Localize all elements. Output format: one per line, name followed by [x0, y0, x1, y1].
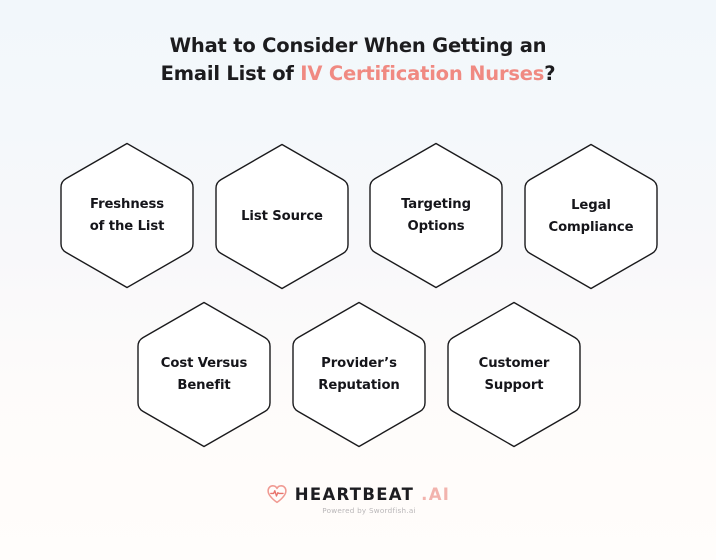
hex-cost-versus-benefit[interactable]: Cost Versus Benefit — [134, 299, 274, 450]
hex-list-source[interactable]: List Source — [212, 141, 352, 292]
logo-brand-name: HEARTBEAT — [295, 485, 414, 504]
hex-freshness-of-the-list[interactable]: Freshness of the List — [57, 140, 197, 291]
hex-label: List Source — [212, 141, 352, 292]
hex-customer-support[interactable]: Customer Support — [444, 299, 584, 450]
footer-branding: HEARTBEAT.AI Powered by Swordfish.ai — [0, 484, 716, 515]
hex-label: Cost Versus Benefit — [134, 299, 274, 450]
hex-label: Customer Support — [444, 299, 584, 450]
hex-targeting-options[interactable]: Targeting Options — [366, 140, 506, 291]
hex-legal-compliance[interactable]: Legal Compliance — [521, 141, 661, 292]
hex-label: Legal Compliance — [521, 141, 661, 292]
logo-brand-tld: .AI — [421, 485, 450, 504]
logo-lockup: HEARTBEAT.AI — [266, 484, 450, 504]
hex-label: Targeting Options — [366, 140, 506, 291]
hexagon-grid: Freshness of the List List Source Target… — [0, 0, 716, 560]
heartbeat-heart-icon — [266, 484, 288, 504]
logo-tagline: Powered by Swordfish.ai — [322, 506, 415, 515]
hex-label: Freshness of the List — [57, 140, 197, 291]
infographic-canvas: What to Consider When Getting an Email L… — [0, 0, 716, 560]
hex-providers-reputation[interactable]: Provider’s Reputation — [289, 299, 429, 450]
hex-label: Provider’s Reputation — [289, 299, 429, 450]
